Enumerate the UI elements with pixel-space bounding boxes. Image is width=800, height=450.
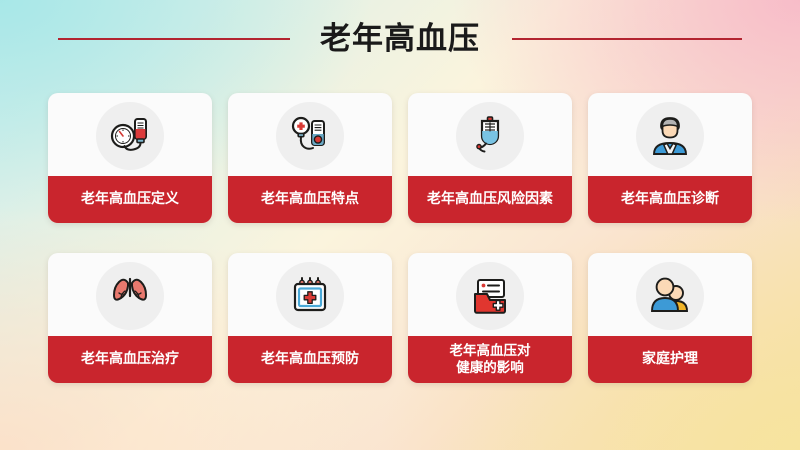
- icon-backdrop: [96, 102, 164, 170]
- topic-card-risk-factors[interactable]: 老年高血压风险因素: [408, 93, 572, 223]
- icon-backdrop: [276, 262, 344, 330]
- card-label-line: 老年高血压定义: [81, 191, 179, 209]
- card-icon-area: [588, 93, 752, 176]
- icon-backdrop: [456, 262, 524, 330]
- title-rule-right: [512, 38, 742, 40]
- icon-backdrop: [96, 262, 164, 330]
- card-label: 老年高血压对 健康的影响: [408, 336, 572, 383]
- card-icon-area: [588, 253, 752, 336]
- sphygmomanometer-icon: [286, 112, 334, 160]
- iv-drip-bag-icon: [466, 112, 514, 160]
- medical-calendar-icon: [286, 272, 334, 320]
- card-label: 家庭护理: [588, 336, 752, 383]
- card-label-line: 家庭护理: [642, 351, 698, 369]
- topic-card-home-care[interactable]: 家庭护理: [588, 253, 752, 383]
- card-label: 老年高血压预防: [228, 336, 392, 383]
- card-label: 老年高血压风险因素: [408, 176, 572, 223]
- topic-card-grid: 老年高血压定义: [48, 93, 752, 383]
- card-label-line-2: 健康的影响: [450, 360, 531, 377]
- icon-backdrop: [636, 262, 704, 330]
- page-title: 老年高血压: [320, 24, 480, 55]
- lungs-icon: [106, 272, 154, 320]
- card-icon-area: [48, 93, 212, 176]
- card-icon-area: [48, 253, 212, 336]
- card-label-line: 老年高血压诊断: [621, 191, 719, 209]
- card-label-line-1: 老年高血压对: [450, 343, 531, 360]
- card-icon-area: [228, 93, 392, 176]
- topic-card-definition[interactable]: 老年高血压定义: [48, 93, 212, 223]
- slide-canvas: 老年高血压: [0, 0, 800, 450]
- topic-card-characteristics[interactable]: 老年高血压特点: [228, 93, 392, 223]
- card-label: 老年高血压诊断: [588, 176, 752, 223]
- card-label-line: 老年高血压风险因素: [427, 191, 553, 209]
- icon-backdrop: [276, 102, 344, 170]
- topic-card-health-impact[interactable]: 老年高血压对 健康的影响: [408, 253, 572, 383]
- icon-backdrop: [456, 102, 524, 170]
- card-label: 老年高血压特点: [228, 176, 392, 223]
- card-label: 老年高血压治疗: [48, 336, 212, 383]
- card-label: 老年高血压定义: [48, 176, 212, 223]
- slide-header: 老年高血压: [0, 16, 800, 62]
- medical-record-folder-icon: [466, 272, 514, 320]
- topic-card-prevention[interactable]: 老年高血压预防: [228, 253, 392, 383]
- card-icon-area: [408, 253, 572, 336]
- card-label-line: 老年高血压特点: [261, 191, 359, 209]
- card-icon-area: [228, 253, 392, 336]
- topic-card-diagnosis[interactable]: 老年高血压诊断: [588, 93, 752, 223]
- card-icon-area: [408, 93, 572, 176]
- topic-card-treatment[interactable]: 老年高血压治疗: [48, 253, 212, 383]
- card-label-line: 老年高血压预防: [261, 351, 359, 369]
- icon-backdrop: [636, 102, 704, 170]
- family-people-icon: [646, 272, 694, 320]
- blood-pressure-gauge-icon: [106, 112, 154, 160]
- elderly-person-icon: [646, 112, 694, 160]
- title-rule-left: [58, 38, 290, 40]
- card-label-line: 老年高血压治疗: [81, 351, 179, 369]
